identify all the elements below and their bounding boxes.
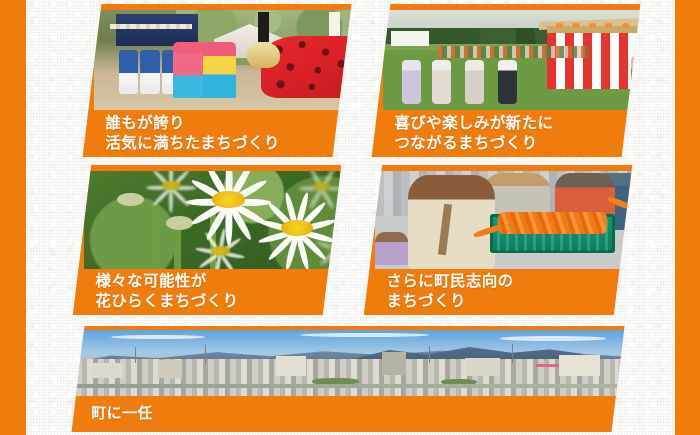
panel-3-caption-line2: 花ひらくまちづくり <box>95 292 341 312</box>
panel-2-caption-line1: 喜びや楽しみが新たに <box>394 114 641 134</box>
panel-4-caption-line1: さらに町民志向の <box>386 272 632 292</box>
panel-1-caption: 誰もが誇り 活気に満ちたまちづくり <box>83 110 352 157</box>
panel-4-caption: さらに町民志向の まちづくり <box>364 269 632 315</box>
concept-panel-5[interactable]: 町に一任 <box>71 326 624 432</box>
panel-2-caption-line2: つながるまちづくり <box>394 134 641 154</box>
panel-1-caption-line2: 活気に満ちたまちづくり <box>105 134 352 154</box>
right-accent-bar <box>675 0 700 435</box>
left-accent-bar <box>0 0 26 435</box>
panel-3-caption-line1: 様々な可能性が <box>95 272 341 292</box>
white-daisy-flowers-photo <box>84 171 342 269</box>
panel-5-caption: 町に一任 <box>71 396 624 432</box>
farmers-market-carrots-photo <box>375 171 633 269</box>
concept-panel-4[interactable]: さらに町民志向の まちづくり <box>364 165 632 315</box>
concept-panel-2[interactable]: 喜びや楽しみが新たに つながるまちづくり <box>372 4 641 157</box>
panel-5-caption-line1: 町に一任 <box>92 404 625 423</box>
panel-4-caption-line2: まちづくり <box>386 292 632 312</box>
festival-lion-dance-photo <box>94 10 352 110</box>
concept-panel-3[interactable]: 様々な可能性が 花ひらくまちづくり <box>73 165 341 315</box>
town-skyline-panorama-photo <box>76 330 624 396</box>
panel-3-caption: 様々な可能性が 花ひらくまちづくり <box>73 269 341 315</box>
panel-2-caption: 喜びや楽しみが新たに つながるまちづくり <box>372 110 641 157</box>
concept-panel-1[interactable]: 誰もが誇り 活気に満ちたまちづくり <box>83 4 352 157</box>
bon-odori-festival-photo <box>383 10 641 110</box>
panel-1-caption-line1: 誰もが誇り <box>105 114 352 134</box>
